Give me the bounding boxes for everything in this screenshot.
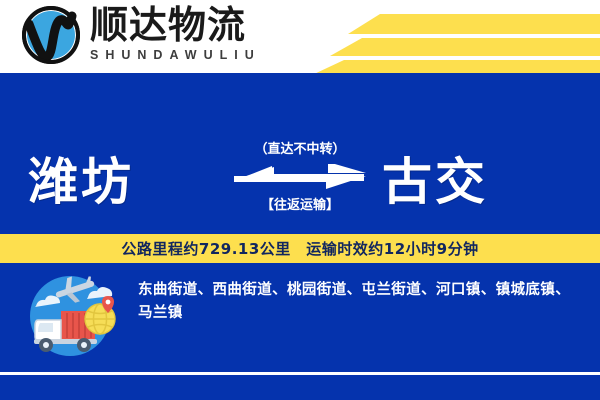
brand-name-en: SHUNDAWULIU [90, 47, 261, 63]
w-swoosh-circle-logo-icon [20, 4, 82, 66]
bottom-divider [0, 372, 600, 375]
double-headed-arrow-icon [234, 164, 366, 190]
service-areas-text: 东曲街道、西曲街道、桃园街道、屯兰街道、河口镇、镇城底镇、马兰镇 [138, 279, 578, 325]
yellow-diagonal-stripes-icon [280, 0, 600, 73]
logistics-truck-plane-globe-icon [16, 273, 124, 359]
header: 顺达物流 SHUNDAWULIU [0, 0, 600, 73]
main-blue-panel: 潍坊 （直达不中转） 【往返运输】 古交 公 [0, 73, 600, 400]
direct-note: （直达不中转） [254, 142, 345, 158]
roundtrip-note: 【往返运输】 [261, 198, 339, 214]
brand-logo: 顺达物流 SHUNDAWULIU [20, 4, 261, 66]
distance-duration-bar: 公路里程约729.13公里 运输时效约12小时9分钟 [0, 234, 600, 263]
service-areas-section: 东曲街道、西曲街道、桃园街道、屯兰街道、河口镇、镇城底镇、马兰镇 [0, 269, 600, 365]
route-row: 潍坊 （直达不中转） 【往返运输】 古交 [0, 113, 600, 243]
route-middle: （直达不中转） 【往返运输】 [230, 113, 370, 243]
origin-city: 潍坊 [28, 113, 258, 243]
distance-duration-text: 公路里程约729.13公里 运输时效约12小时9分钟 [121, 238, 478, 259]
destination-city: 古交 [352, 113, 582, 243]
logistics-route-poster: 顺达物流 SHUNDAWULIU 潍坊 （直达不中转） [0, 0, 600, 400]
brand-text-block: 顺达物流 SHUNDAWULIU [90, 4, 261, 63]
brand-name-cn: 顺达物流 [90, 4, 261, 46]
